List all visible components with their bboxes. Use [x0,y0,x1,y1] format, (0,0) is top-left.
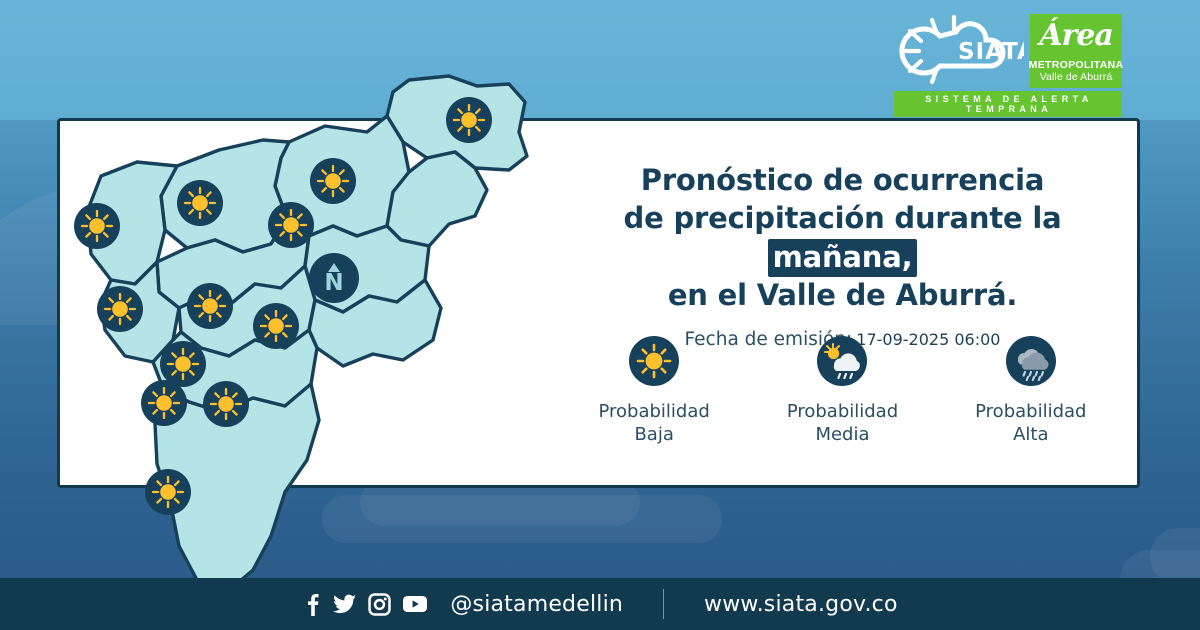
sun-icon [446,97,492,143]
compass-label: N [324,274,343,294]
sun-icon [74,203,120,249]
footer-divider [663,589,664,619]
area-metropolitana-logo: Área METROPOLITANA Valle de Aburrá [1030,14,1122,88]
legend-label-media: Probabilidad Media [787,400,898,446]
map-marker-sun-icon-10[interactable] [203,381,249,427]
map-marker-sun-icon-0[interactable] [446,97,492,143]
legend-label-baja: Probabilidad Baja [598,400,709,446]
sun-icon [629,336,679,386]
map-marker-sun-icon-7[interactable] [253,303,299,349]
title-line-3: en el Valle de Aburrá. [668,278,1017,312]
area-line2: Valle de Aburrá [1040,71,1113,83]
website-url[interactable]: www.siata.gov.co [704,592,898,617]
map-marker-sun-icon-3[interactable] [268,202,314,248]
legend-item-alta: Probabilidad Alta [943,336,1118,446]
cloud-heavy-rain-icon [1006,336,1056,386]
logo-group: SIATA Área METROPOLITANA Valle de Aburrá… [894,14,1122,117]
footer-content: @siatamedellin www.siata.gov.co [302,589,897,619]
legend-baja-line2: Baja [634,424,673,445]
sun-icon [203,381,249,427]
map-marker-sun-icon-5[interactable] [187,283,233,329]
legend-baja-line1: Probabilidad [598,401,709,422]
page-title: Pronóstico de ocurrencia de precipitació… [560,161,1125,314]
youtube-icon[interactable] [402,594,428,614]
logo-row: SIATA Área METROPOLITANA Valle de Aburrá [894,14,1122,88]
map-marker-sun-icon-9[interactable] [141,380,187,426]
map-marker-sun-icon-1[interactable] [310,158,356,204]
sun-icon [97,286,143,332]
title-line-1: Pronóstico de ocurrencia [641,163,1044,197]
social-handle[interactable]: @siatamedellin [450,592,623,617]
siata-wordmark: SIATA [958,39,1024,65]
sun-icon [253,303,299,349]
siata-tagline: SISTEMA DE ALERTA TEMPRANA [894,91,1122,117]
facebook-icon[interactable] [302,592,322,616]
sun-cloud-rain-icon [817,336,867,386]
compass-north-icon: N [309,253,359,303]
sun-icon [177,180,223,226]
sun-icon [141,380,187,426]
valle-de-aburra-map: N [57,40,537,600]
legend-item-baja: Probabilidad Baja [567,336,742,446]
sun-icon [310,158,356,204]
sun-icon [145,469,191,515]
title-highlight: mañana, [768,239,918,277]
legend-alta-line2: Alta [1013,424,1048,445]
map-marker-sun-icon-2[interactable] [177,180,223,226]
map-marker-sun-icon-11[interactable] [145,469,191,515]
area-script-text: Área [1030,18,1122,53]
map-marker-sun-icon-6[interactable] [97,286,143,332]
map-marker-sun-icon-4[interactable] [74,203,120,249]
legend-media-line1: Probabilidad [787,401,898,422]
area-line1: METROPOLITANA [1029,60,1124,71]
legend-media-line2: Media [815,424,869,445]
siata-logo: SIATA [894,14,1024,88]
probability-legend: Probabilidad Baja [560,336,1125,446]
legend-label-alta: Probabilidad Alta [975,400,1086,446]
legend-item-media: Probabilidad Media [755,336,930,446]
forecast-text-panel: Pronóstico de ocurrencia de precipitació… [560,161,1125,350]
infographic-canvas: SIATA Área METROPOLITANA Valle de Aburrá… [0,0,1200,630]
sun-icon [187,283,233,329]
footer-bar: @siatamedellin www.siata.gov.co [0,578,1200,630]
twitter-icon[interactable] [333,592,357,616]
instagram-icon[interactable] [368,593,391,616]
legend-alta-line1: Probabilidad [975,401,1086,422]
sun-icon [268,202,314,248]
social-icons [302,592,428,616]
title-line-2-pre: de precipitación durante la [624,201,1062,235]
